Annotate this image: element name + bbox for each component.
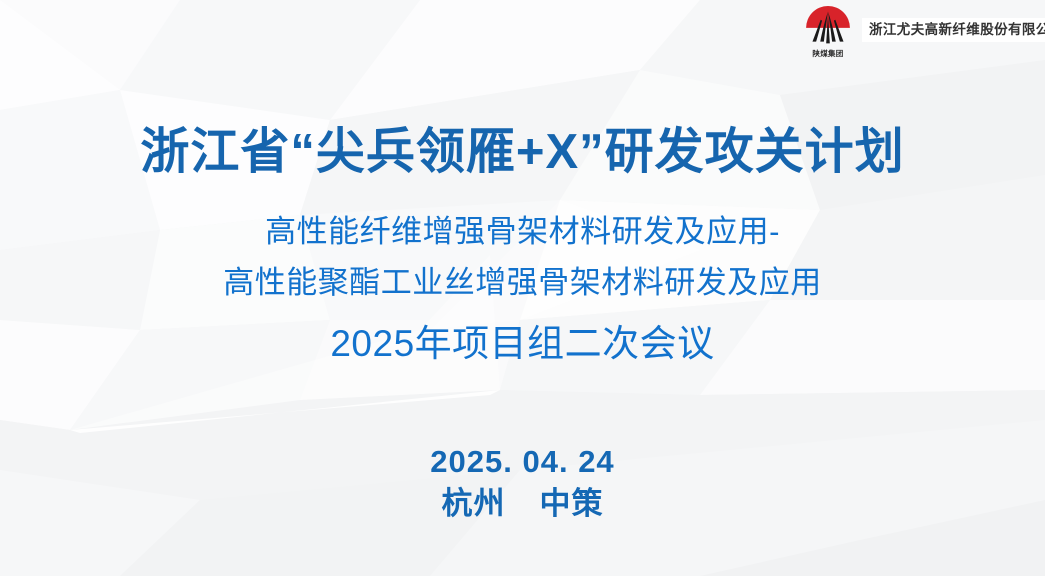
event-location: 杭州中策	[0, 484, 1045, 524]
subtitle-line-2: 高性能聚酯工业丝增强骨架材料研发及应用	[0, 263, 1045, 303]
event-date: 2025. 04. 24	[0, 443, 1045, 481]
subtitle-line-1: 高性能纤维增强骨架材料研发及应用-	[0, 212, 1045, 252]
event-location-venue: 中策	[540, 486, 604, 521]
meeting-name: 2025年项目组二次会议	[0, 320, 1045, 368]
title-slide: 陕煤集团 浙江尤夫高新纤维股份有限公司 浙江省“尖兵领雁+X”研发攻关计划 高性…	[0, 0, 1045, 576]
title-text-block: 浙江省“尖兵领雁+X”研发攻关计划 高性能纤维增强骨架材料研发及应用- 高性能聚…	[0, 0, 1045, 576]
event-location-city: 杭州	[442, 486, 506, 521]
page-title: 浙江省“尖兵领雁+X”研发攻关计划	[0, 123, 1045, 181]
